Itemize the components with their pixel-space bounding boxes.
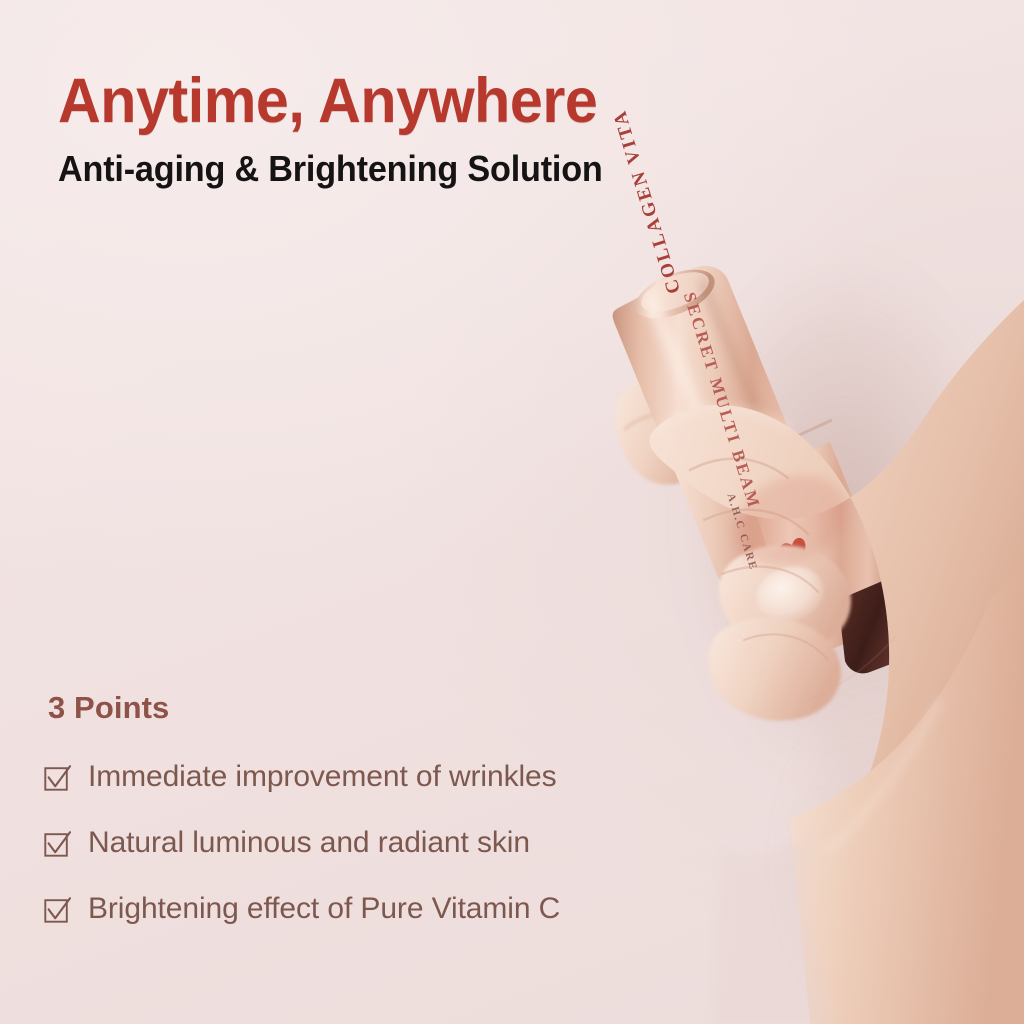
points-section-title: 3 Points <box>48 690 814 726</box>
point-label: Immediate improvement of wrinkles <box>88 760 557 794</box>
headline-block: Anytime, Anywhere Anti-aging & Brighteni… <box>58 70 818 187</box>
list-item: Immediate improvement of wrinkles <box>44 760 814 794</box>
points-section: 3 Points Immediate improvement of wrinkl… <box>44 690 814 926</box>
promo-banner: COLLAGEN VITA SECRET MULTI BEAM A.H.C CA… <box>0 0 1024 1024</box>
point-label: Natural luminous and radiant skin <box>88 826 530 860</box>
point-label: Brightening effect of Pure Vitamin C <box>88 892 560 926</box>
page-title: Anytime, Anywhere <box>58 70 772 133</box>
list-item: Natural luminous and radiant skin <box>44 826 814 860</box>
list-item: Brightening effect of Pure Vitamin C <box>44 892 814 926</box>
checkbox-checked-icon <box>44 830 71 857</box>
checkbox-checked-icon <box>44 764 71 791</box>
checkbox-checked-icon <box>44 896 71 923</box>
page-subtitle: Anti-aging & Brightening Solution <box>58 151 780 187</box>
